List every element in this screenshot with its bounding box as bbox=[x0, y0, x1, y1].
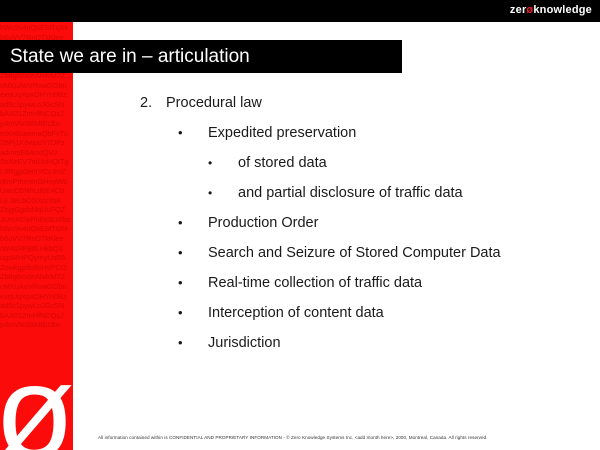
bullet-text: Jurisdiction bbox=[208, 328, 281, 358]
bullet-marker: • bbox=[178, 328, 183, 358]
cipher-line: JUmXCwPn6a3LWbo bbox=[0, 215, 73, 225]
cipher-line: hWc9v4nQsEMTqXk bbox=[0, 224, 73, 234]
cipher-line: admmEb4cxtQVJ bbox=[0, 148, 73, 158]
cipher-line: ad5c1pywLoJGcSN bbox=[0, 301, 73, 311]
cipher-line: bAX01ZmHfNCQsJ bbox=[0, 311, 73, 321]
cipher-line: UwnD5NhLdbE4Cb bbox=[0, 186, 73, 196]
cipher-line: cMXuAoVRvwGGbn bbox=[0, 81, 73, 91]
cipher-line: bAX01ZmHfNCQsJ bbox=[0, 109, 73, 119]
cipher-line: mXn6oaemaQbFvTu bbox=[0, 129, 73, 139]
oslash-logo-glyph: ø bbox=[0, 352, 73, 450]
cipher-line: b6uVV7RnDTkKlee bbox=[0, 234, 73, 244]
cipher-line: cMXuAoVRvwGGbn bbox=[0, 282, 73, 292]
bullet-row: •and partial disclosure of traffic data bbox=[140, 178, 590, 208]
bullet-marker: 2. bbox=[140, 88, 152, 118]
bullet-text: Production Order bbox=[208, 208, 318, 238]
bullet-text: of stored data bbox=[238, 148, 327, 178]
bullet-text: Real-time collection of traffic data bbox=[208, 268, 422, 298]
cipher-line: p4mVkr0BMtEtJbv bbox=[0, 119, 73, 129]
cipher-line: exqUqXpxOHYn0Bz bbox=[0, 90, 73, 100]
bullet-marker: • bbox=[208, 148, 212, 178]
bullet-row: •Search and Seizure of Stored Computer D… bbox=[140, 238, 590, 268]
cipher-line: exqUqXpxOHYn0Bz bbox=[0, 292, 73, 302]
bullet-marker: • bbox=[178, 268, 183, 298]
cipher-line: ugsMHPQymyUsB5 bbox=[0, 253, 73, 263]
cipher-line: 2BPj1K6wpuY7DPz bbox=[0, 138, 73, 148]
cipher-line: Zb8g6mdeAh4rM7Z bbox=[0, 272, 73, 282]
cipher-line: r8mPthmxnGHnyWb bbox=[0, 177, 73, 187]
left-red-sidebar: hWc9v4nQsEMTqXkb6uVV7RnDTkKleerW4sRPjBfL… bbox=[0, 22, 73, 450]
cipher-line: rW4sRPjBfLHkbQ3 bbox=[0, 244, 73, 254]
bullet-text: and partial disclosure of traffic data bbox=[238, 178, 463, 208]
page-title: State we are in – articulation bbox=[10, 44, 250, 69]
bullet-row: •Expedited preservation bbox=[140, 118, 590, 148]
cipher-line: LjL3eLbCGXcrYoK bbox=[0, 196, 73, 206]
cipher-line: L8Rgjp0emYCvJmZ bbox=[0, 167, 73, 177]
bullet-marker: • bbox=[178, 208, 183, 238]
cipher-line: p4mVkr0BMtEtJbv bbox=[0, 320, 73, 330]
bullet-text: Expedited preservation bbox=[208, 118, 356, 148]
cipher-line: SsXeEV7mUoHQtTg bbox=[0, 157, 73, 167]
bullet-text: Interception of content data bbox=[208, 298, 384, 328]
zeroknowledge-logo: zerøknowledge bbox=[510, 3, 592, 17]
bullet-row: •Real-time collection of traffic data bbox=[140, 268, 590, 298]
top-header-bar: zerøknowledge bbox=[0, 0, 600, 22]
brand-prefix: zer bbox=[510, 4, 527, 16]
bullet-marker: • bbox=[178, 118, 183, 148]
bullet-row: •Interception of content data bbox=[140, 298, 590, 328]
cipher-line: hWc9v4nQsEMTqXk bbox=[0, 23, 73, 33]
bullet-marker: • bbox=[178, 298, 183, 328]
cipher-line: ZbjgGgdsNqUuFQZ bbox=[0, 205, 73, 215]
bullet-marker: • bbox=[178, 238, 183, 268]
bullet-row: •Production Order bbox=[140, 208, 590, 238]
bullet-marker: • bbox=[208, 178, 212, 208]
bullet-row: •of stored data bbox=[140, 148, 590, 178]
confidentiality-footer: All information contained within is CONF… bbox=[98, 434, 594, 441]
slide-title-bar: State we are in – articulation bbox=[0, 40, 402, 73]
brand-suffix: knowledge bbox=[533, 4, 592, 16]
cipher-line: Zowkgpdo8sHsPCO bbox=[0, 263, 73, 273]
bullet-text: Search and Seizure of Stored Computer Da… bbox=[208, 238, 501, 268]
bullet-row: •Jurisdiction bbox=[140, 328, 590, 358]
slide-body-content: 2.Procedural law•Expedited preservation•… bbox=[140, 88, 590, 358]
bullet-text: Procedural law bbox=[166, 88, 262, 118]
bullet-row: 2.Procedural law bbox=[140, 88, 590, 118]
cipher-line: ad5c1pywLoJGcSN bbox=[0, 100, 73, 110]
